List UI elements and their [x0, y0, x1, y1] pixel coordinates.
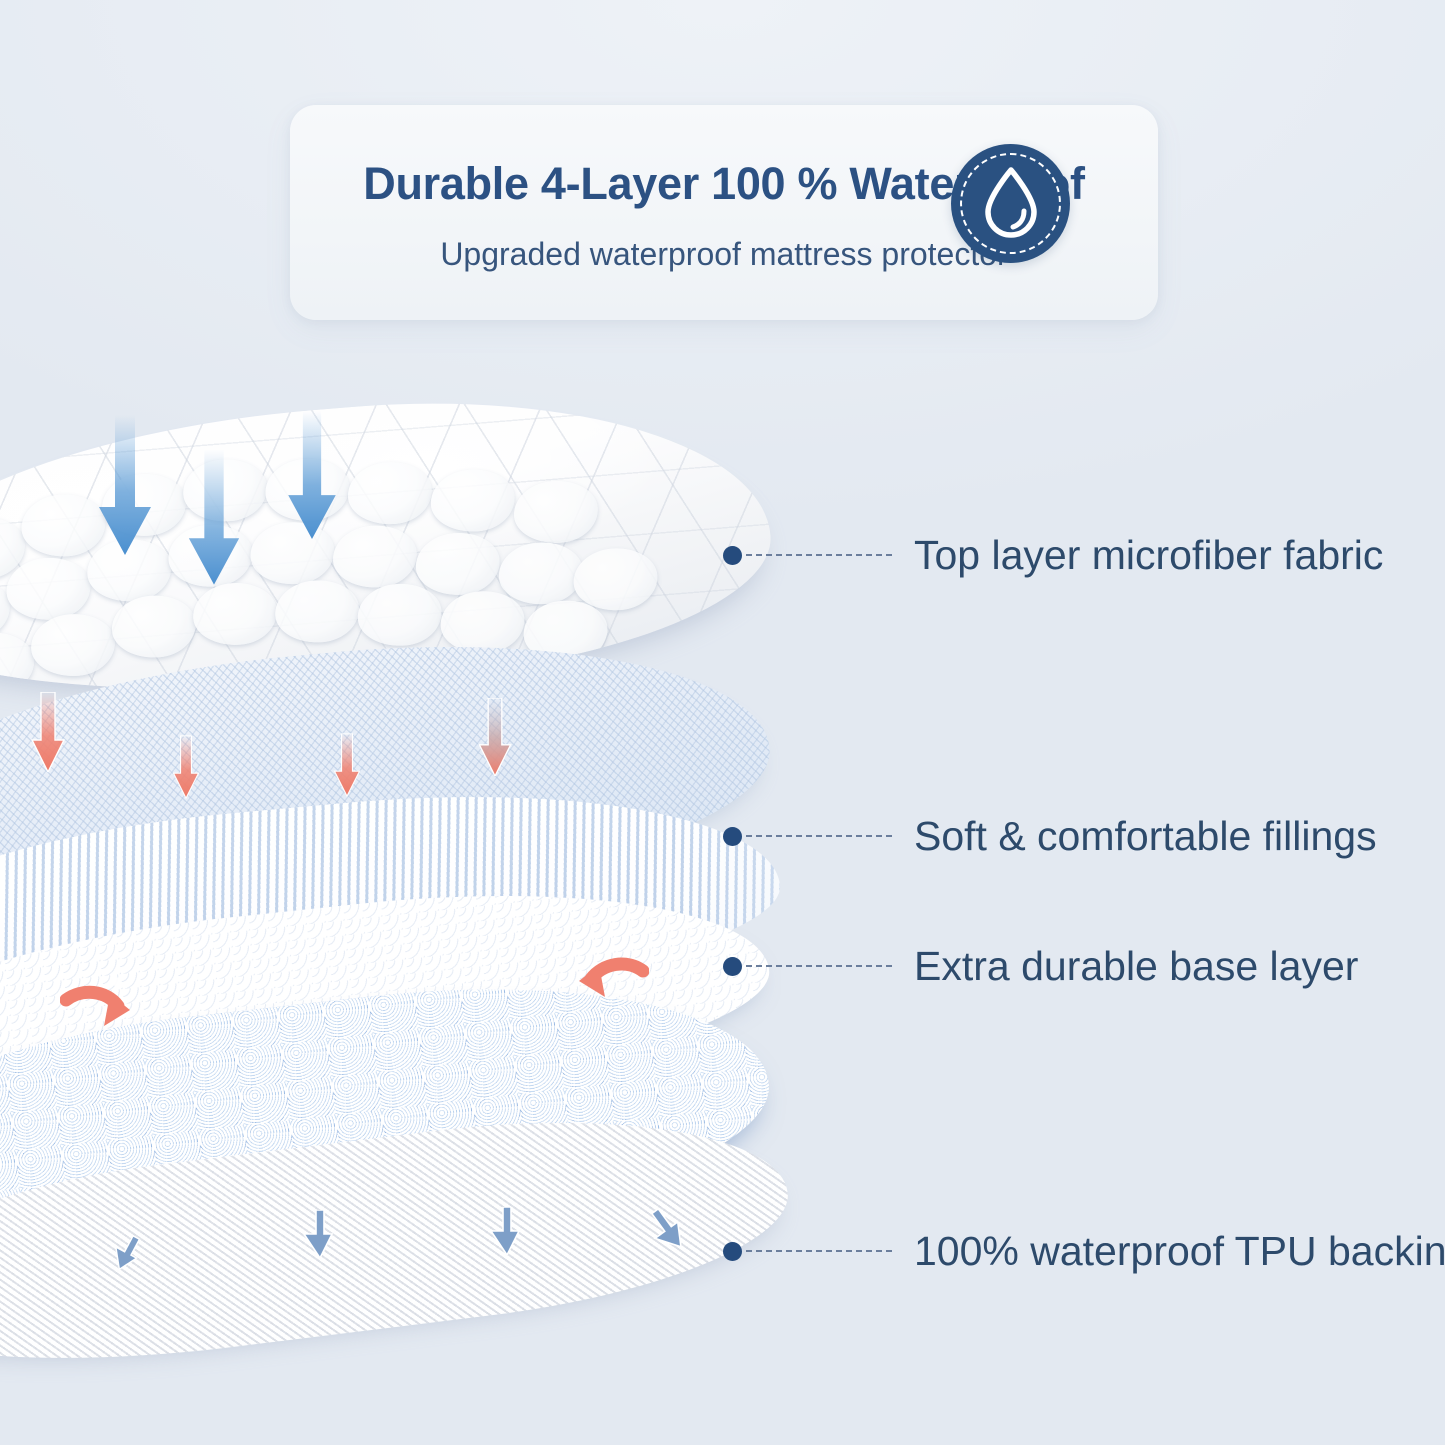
infographic-stage: Durable 4-Layer 100 % Waterproof Upgrade… — [0, 0, 1445, 1445]
callout-tpu-backing: 100% waterproof TPU backing — [723, 1228, 1445, 1274]
airflow-arrow-blue-2 — [185, 447, 243, 587]
tpu-block-arrow-4 — [646, 1207, 690, 1251]
tpu-block-arrow-1 — [110, 1235, 144, 1271]
callout-dashed-leader — [746, 835, 892, 837]
moisture-arrow-salmon-2 — [172, 735, 200, 799]
callout-label: Soft & comfortable fillings — [914, 816, 1377, 857]
callout-dot-icon — [723, 546, 742, 565]
callout-dot-icon — [723, 827, 742, 846]
callout-fillings: Soft & comfortable fillings — [723, 813, 1377, 859]
callout-dot-icon — [723, 1242, 742, 1261]
callout-label: Top layer microfiber fabric — [914, 535, 1383, 576]
moisture-arrow-salmon-3 — [333, 733, 361, 797]
tpu-block-arrow-3 — [490, 1207, 524, 1255]
moisture-arrow-salmon-4 — [477, 698, 513, 776]
header-card: Durable 4-Layer 100 % Waterproof Upgrade… — [290, 105, 1158, 320]
callout-top-layer: Top layer microfiber fabric — [723, 532, 1383, 578]
callout-dashed-leader — [746, 554, 892, 556]
callout-dashed-leader — [746, 1250, 892, 1252]
callout-label: 100% waterproof TPU backing — [914, 1231, 1445, 1272]
tpu-block-arrow-2 — [303, 1210, 337, 1258]
callout-dot-icon — [723, 957, 742, 976]
callout-label: Extra durable base layer — [914, 946, 1358, 987]
airflow-arrow-blue-1 — [95, 415, 155, 555]
water-drop-icon — [951, 144, 1070, 263]
airflow-arrow-blue-3 — [283, 411, 341, 539]
moisture-arrow-salmon-1 — [30, 692, 66, 772]
callout-dashed-leader — [746, 965, 892, 967]
callout-base-layer: Extra durable base layer — [723, 943, 1358, 989]
